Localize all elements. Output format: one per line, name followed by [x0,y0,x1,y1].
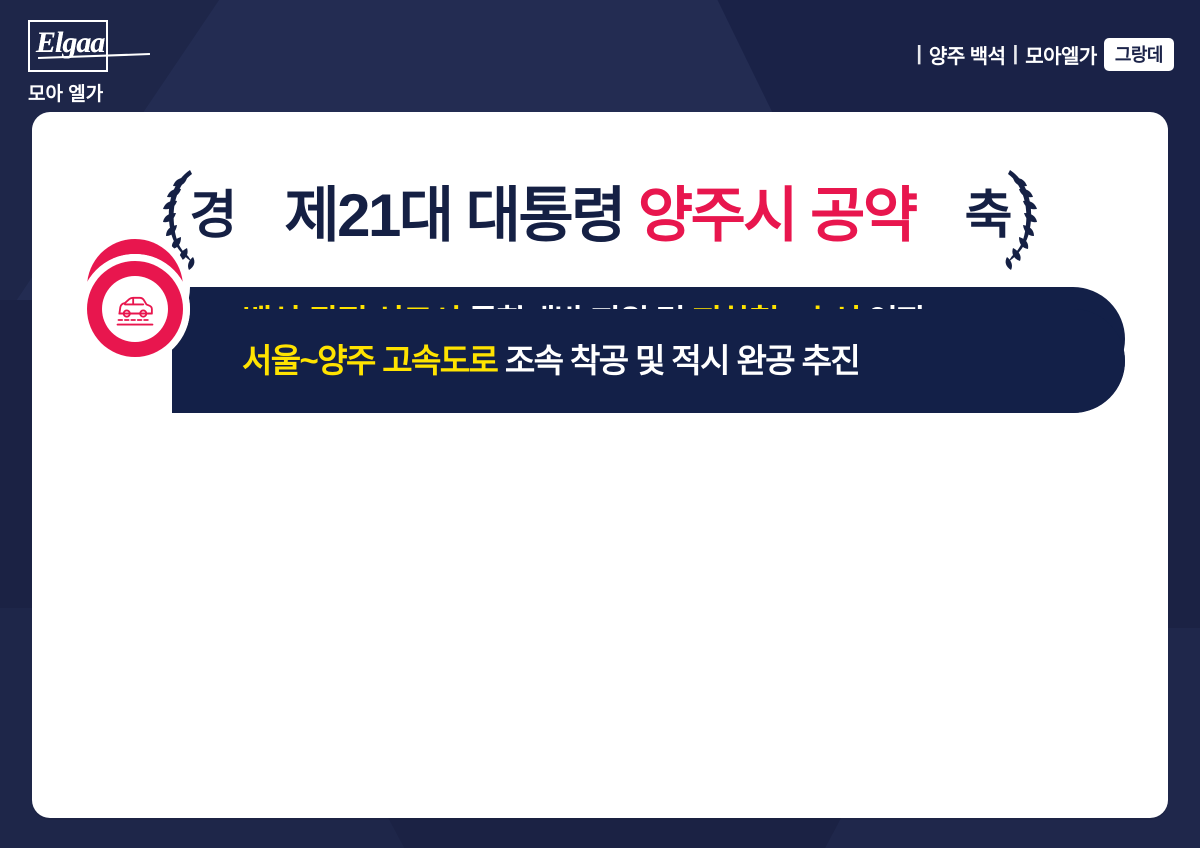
content-card: 경 제21대 대통령 양주시 공약 [32,112,1168,818]
headline: 경 제21대 대통령 양주시 공약 [32,162,1168,270]
brandline-separator-left: | [916,43,922,66]
brandline-separator-mid: | [1013,43,1019,66]
promise-pill: 서울~양주 고속도로 조속 착공 및 적시 완공 추진 [172,309,1125,413]
header-brandline: | 양주 백석 | 모아엘가 그랑데 [916,38,1174,71]
promise-title-highlight: 서울~양주 고속도로 [242,342,497,379]
logo-wordmark: Elgaa [36,26,156,60]
brandline-badge: 그랑데 [1104,38,1174,71]
headline-title-navy: 제21대 대통령 [284,186,623,246]
laurel-right-char: 축 [965,190,1011,242]
promise-icon-ring [87,261,183,357]
promise-icon-inner [102,276,168,342]
brandline-name: 모아엘가 [1025,40,1097,69]
brandline-location: 양주 백석 [929,40,1006,69]
promise-title-plain: 조속 착공 및 적시 완공 추진 [497,342,859,379]
promise-title: 서울~양주 고속도로 조속 착공 및 적시 완공 추진 [242,342,1125,380]
headline-title-pink: 양주시 공약 [638,186,916,246]
car-highway-icon [113,287,157,331]
brand-logo: Elgaa 모아 엘가 [28,20,218,106]
logo-frame: Elgaa [28,20,108,72]
laurel-wreath-left-icon: 경 [154,162,270,270]
logo-korean-name: 모아 엘가 [28,79,218,106]
promise-icon-badge [87,261,183,357]
poster-canvas: Elgaa 모아 엘가 | 양주 백석 | 모아엘가 그랑데 [0,0,1200,848]
laurel-left-char: 경 [190,190,236,242]
promise-list: 백석-광적 신도시 통합개발 지원 및 지하철 3호선 연장 – LH주도로 1… [32,287,1168,309]
laurel-wreath-right-icon: 축 [930,162,1046,270]
